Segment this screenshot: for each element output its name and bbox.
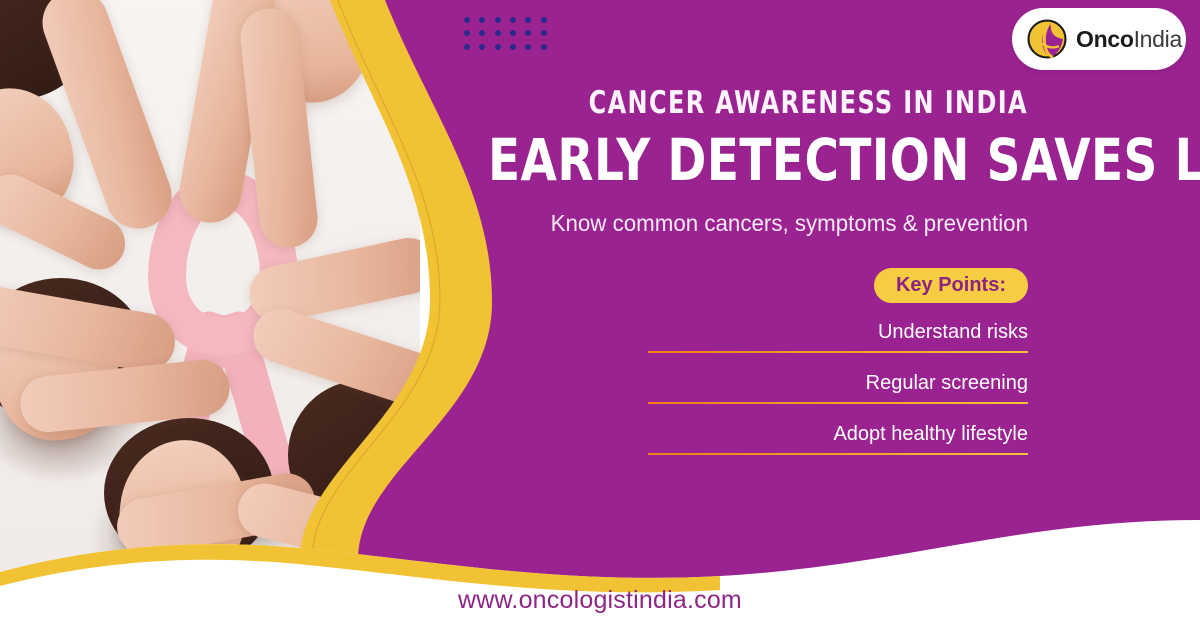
- hero-subtitle: Know common cancers, symptoms & preventi…: [446, 210, 1028, 238]
- list-item: Regular screening: [428, 372, 1028, 404]
- list-item: Adopt healthy lifestyle: [428, 423, 1028, 455]
- key-point-underline: [648, 453, 1028, 455]
- website-url[interactable]: www.oncologistindia.com: [0, 586, 1200, 615]
- brand-name-light: India: [1134, 26, 1182, 52]
- hero-eyebrow: CANCER AWARENESS IN INDIA: [512, 88, 1028, 119]
- dot-grid-decoration: [464, 17, 556, 57]
- key-point-label: Adopt healthy lifestyle: [428, 423, 1028, 453]
- key-points-badge: Key Points:: [874, 268, 1028, 303]
- key-point-underline: [648, 351, 1028, 353]
- key-point-underline: [648, 402, 1028, 404]
- brand-name-bold: Onco: [1076, 26, 1134, 52]
- brand-logo[interactable]: OncoIndia: [1012, 8, 1186, 70]
- list-item: Understand risks: [428, 321, 1028, 353]
- brand-name: OncoIndia: [1076, 28, 1182, 51]
- hero-content: CANCER AWARENESS IN INDIA EARLY DETECTIO…: [428, 88, 1028, 474]
- hero-headline: EARLY DETECTION SAVES LIVES: [488, 131, 1028, 190]
- key-point-label: Understand risks: [428, 321, 1028, 351]
- onco-ribbon-circle-icon: [1026, 18, 1068, 60]
- key-points-list: Understand risks Regular screening Adopt…: [428, 321, 1028, 455]
- key-point-label: Regular screening: [428, 372, 1028, 402]
- awareness-banner: OncoIndia CANCER AWARENESS IN INDIA EARL…: [0, 0, 1200, 630]
